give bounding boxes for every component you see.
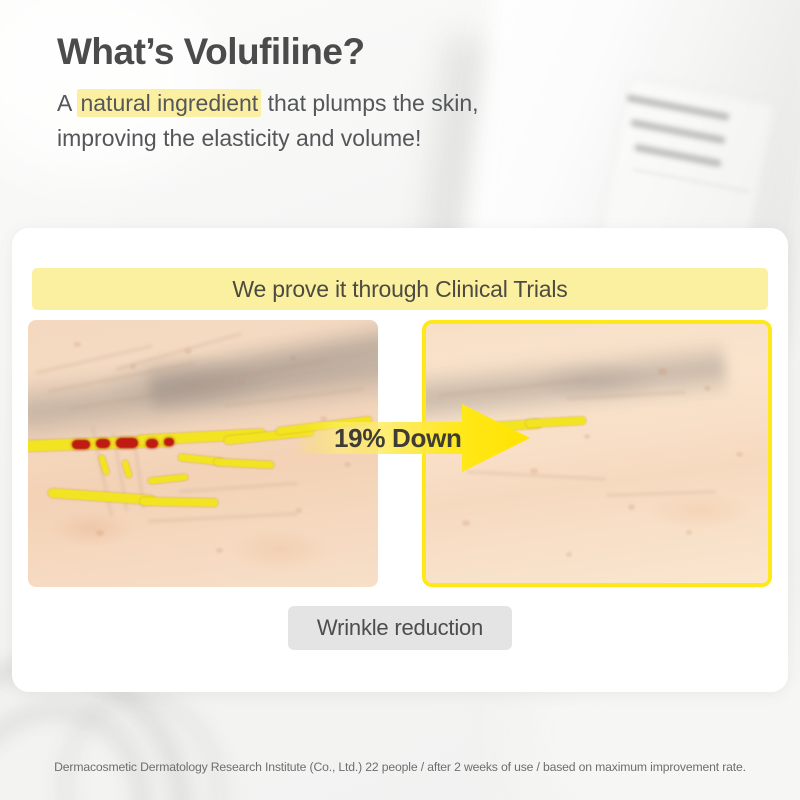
page-title: What’s Volufiline? (57, 30, 697, 74)
subtitle-lead: A (57, 90, 77, 116)
bottle-label-rule (633, 169, 749, 192)
clinical-trial-card: We prove it through Clinical Trials (12, 228, 788, 692)
background-swirl (47, 680, 239, 800)
header: What’s Volufiline? A natural ingredient … (57, 30, 697, 156)
infographic-page: What’s Volufiline? A natural ingredient … (0, 0, 800, 800)
subtitle-highlight: natural ingredient (77, 89, 261, 117)
subtitle-rest: that plumps the skin, (261, 90, 478, 116)
before-after-photo-pair: 19% Down (28, 320, 772, 588)
footer-disclaimer: Dermacosmetic Dermatology Research Insti… (54, 760, 746, 774)
wrinkle-reduction-label: Wrinkle reduction (317, 615, 483, 641)
clinical-trial-banner: We prove it through Clinical Trials (32, 268, 768, 310)
page-subtitle: A natural ingredient that plumps the ski… (57, 86, 697, 156)
wrinkle-reduction-badge: Wrinkle reduction (288, 606, 512, 650)
improvement-arrow: 19% Down (294, 404, 530, 472)
clinical-trial-banner-label: We prove it through Clinical Trials (232, 276, 567, 303)
footer: Dermacosmetic Dermatology Research Insti… (0, 758, 800, 776)
improvement-arrow-label: 19% Down (334, 404, 462, 472)
subtitle-line-2: improving the elasticity and volume! (57, 121, 697, 156)
